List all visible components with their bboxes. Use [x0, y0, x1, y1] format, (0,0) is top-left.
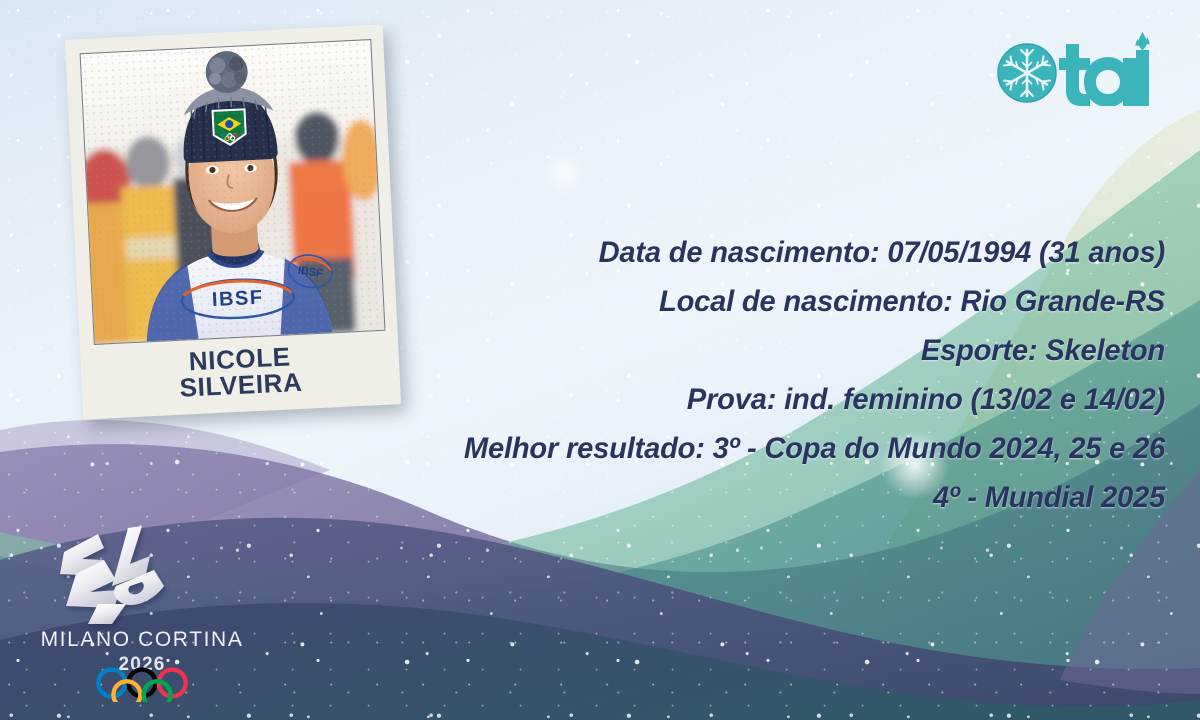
poster-canvas: BRASIL IBSF	[0, 0, 1200, 720]
athlete-photo: BRASIL IBSF	[80, 39, 386, 345]
athlete-name: NICOLE SILVEIRA	[94, 340, 386, 406]
milano-cortina-2026-lockup: MILANO CORTINA 2026	[42, 512, 242, 702]
info-line-best-result-secondary: 4º - Mundial 2025	[399, 473, 1165, 522]
flame-icon	[1135, 32, 1149, 50]
athlete-polaroid-card: BRASIL IBSF	[65, 24, 401, 419]
otd-logo[interactable]	[996, 26, 1176, 106]
emblem-26-mark	[60, 526, 164, 624]
svg-text:BRASIL: BRASIL	[222, 111, 236, 116]
info-line-birth-date: Data de nascimento: 07/05/1994 (31 anos)	[399, 228, 1165, 277]
svg-text:IBSF: IBSF	[211, 287, 264, 311]
athlete-info-block: Data de nascimento: 07/05/1994 (31 anos)…	[375, 228, 1165, 522]
info-line-sport: Esporte: Skeleton	[399, 326, 1165, 375]
games-year-label: 2026	[118, 654, 165, 675]
otd-d-stem	[1136, 50, 1149, 106]
snow-glow	[540, 150, 586, 196]
info-line-best-result: Melhor resultado: 3º - Copa do Mundo 202…	[399, 424, 1165, 473]
snowflake-o-icon	[998, 44, 1056, 102]
info-line-birth-place: Local de nascimento: Rio Grande-RS	[399, 277, 1165, 326]
athlete-photo-illustration: BRASIL IBSF	[81, 40, 385, 344]
info-line-event: Prova: ind. feminino (13/02 e 14/02)	[399, 375, 1165, 424]
otd-letter-d	[1084, 57, 1136, 106]
host-cities-label: MILANO CORTINA	[42, 628, 242, 651]
